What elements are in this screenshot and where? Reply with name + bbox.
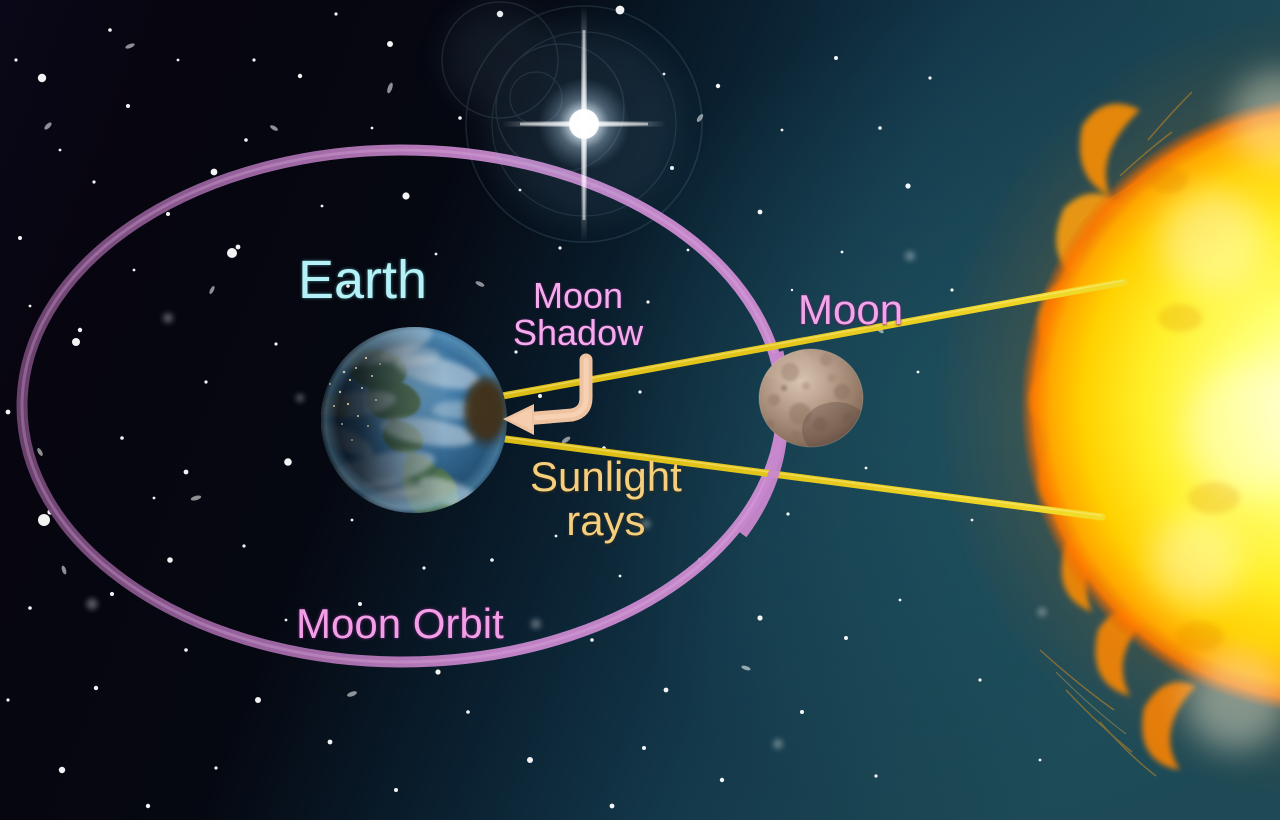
diagram-canvas — [0, 0, 1280, 820]
eclipse-diagram: Earth Moon Shadow Moon Sunlight rays Moo… — [0, 0, 1280, 820]
